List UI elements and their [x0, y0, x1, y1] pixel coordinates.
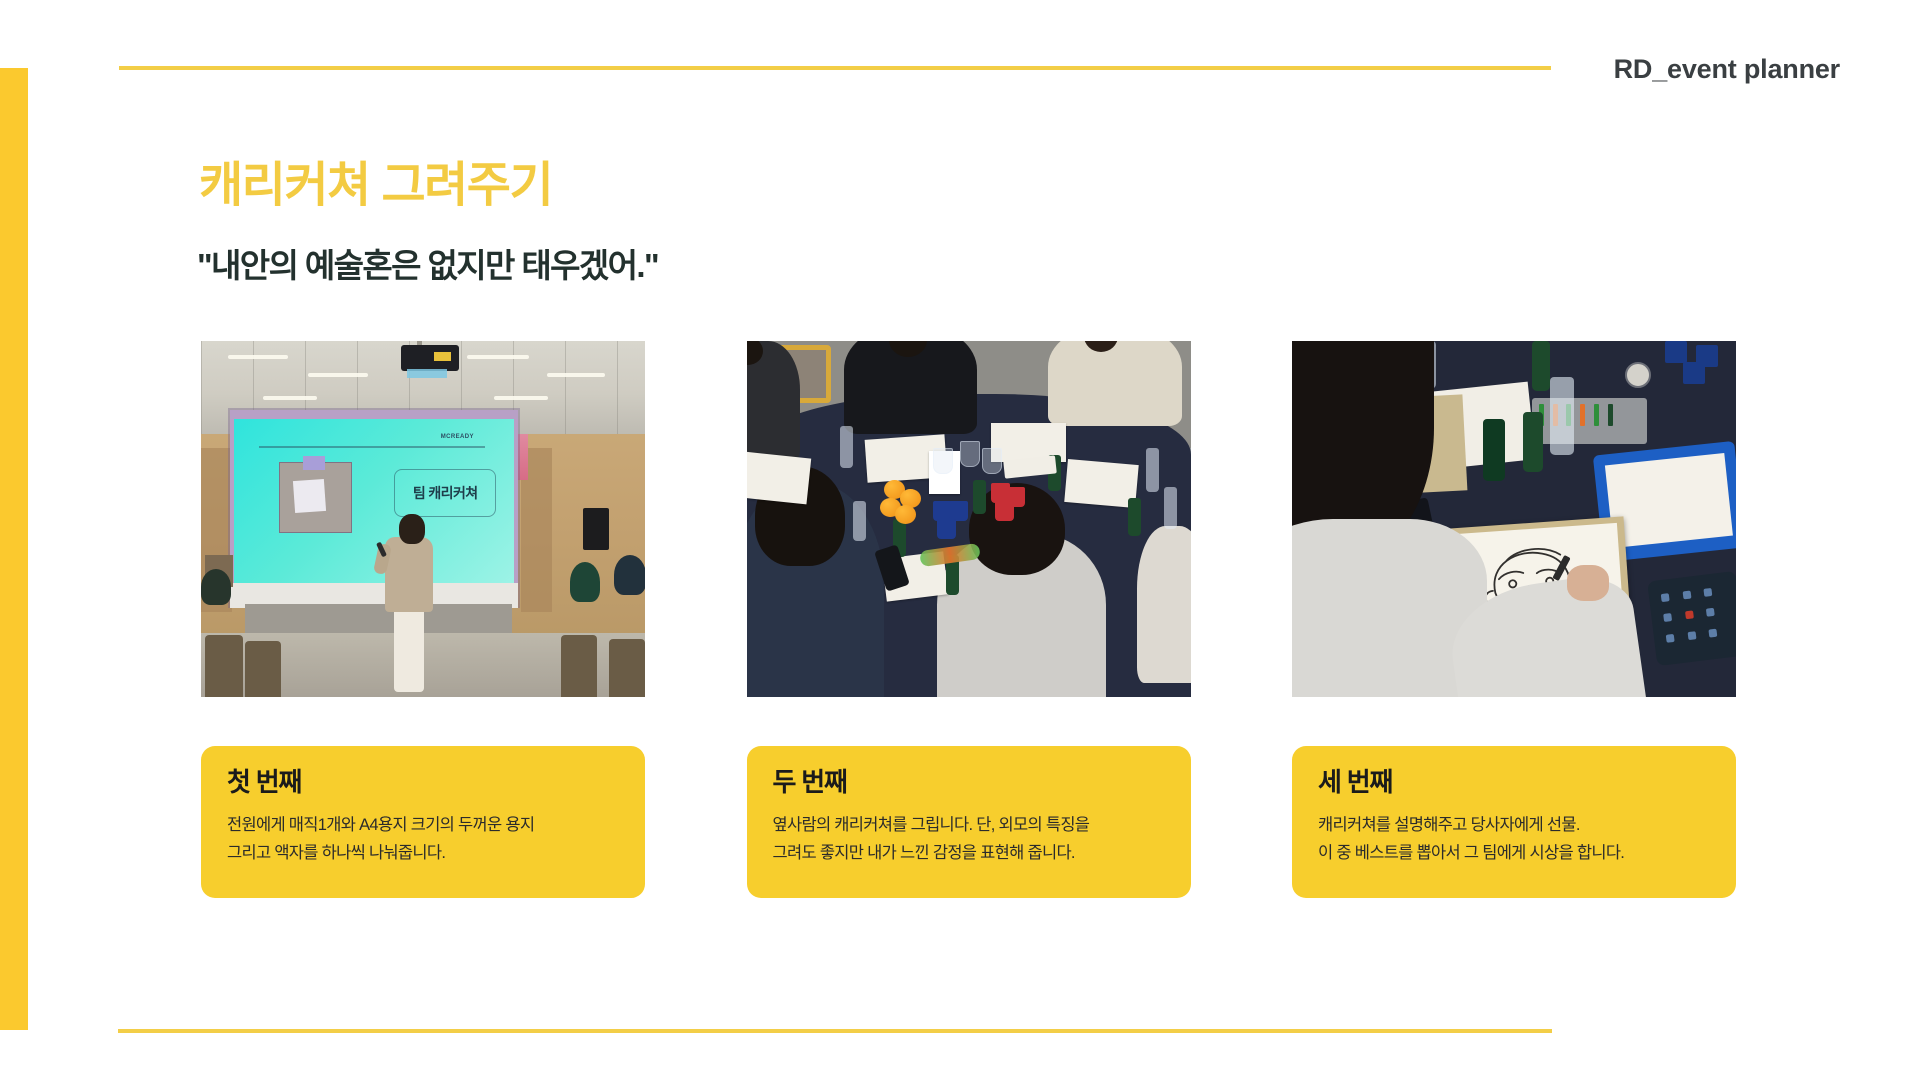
photo-row: MCREADY 팀 캐리커쳐 [201, 341, 1736, 697]
app-icon [1708, 628, 1717, 637]
blue-cup [937, 519, 956, 539]
step-card-row: 첫 번째 전원에게 매직1개와 A4용지 크기의 두꺼운 용지 그리고 액자를 … [201, 746, 1736, 898]
blue-cup-lid [1683, 362, 1705, 384]
step-card-title: 두 번째 [773, 768, 1165, 797]
water-bottle [840, 426, 853, 468]
seminar-presentation-photo: MCREADY 팀 캐리커쳐 [201, 341, 645, 697]
ceiling-light [228, 355, 288, 359]
projector-beam [407, 369, 447, 378]
app-icon [1703, 588, 1712, 597]
glass-cup [933, 448, 953, 474]
glass-cup [960, 441, 980, 467]
ceiling-light [263, 396, 317, 400]
drawing-paper [747, 452, 811, 505]
glass-cup [982, 448, 1002, 474]
bottom-divider-rule [118, 1029, 1552, 1033]
participant-hand [1567, 565, 1609, 601]
participant-top [1048, 341, 1181, 426]
ceiling-light [467, 355, 529, 359]
audience-person [614, 555, 645, 595]
water-bottle [1146, 448, 1159, 492]
chair [205, 635, 243, 697]
caricature-closeup-photo [1292, 341, 1736, 697]
green-bottle [973, 480, 986, 514]
slide-sticky-note [303, 456, 325, 470]
tablet-device [1647, 571, 1736, 667]
presenter-body [385, 537, 433, 612]
marker [1608, 404, 1613, 426]
marker [1594, 404, 1599, 426]
water-bottle [1550, 377, 1574, 455]
mandarin-orange [895, 505, 916, 524]
step-card-line: 전원에게 매직1개와 A4용지 크기의 두꺼운 용지 [227, 811, 619, 840]
marker [1580, 404, 1585, 426]
presenter-head [399, 514, 425, 544]
slide-rule [259, 446, 485, 448]
audience-person [570, 562, 600, 602]
top-divider-rule [119, 66, 1551, 70]
presenter-legs [394, 604, 424, 692]
step-card-line: 그리고 액자를 하나씩 나눠줍니다. [227, 839, 619, 868]
slide-logo: MCREADY [441, 434, 474, 440]
chair [245, 641, 281, 697]
participant-arm [1137, 526, 1190, 683]
page-title: 캐리커쳐 그려주기 [199, 158, 552, 213]
red-cup [995, 501, 1014, 521]
projector-badge [434, 352, 451, 361]
chair [561, 635, 597, 697]
step-card-title: 첫 번째 [227, 768, 619, 797]
ceiling-light [547, 373, 605, 377]
app-icon [1684, 611, 1693, 620]
step-card-line: 그려도 좋지만 내가 느낀 감정을 표현해 줍니다. [773, 839, 1165, 868]
app-icon [1706, 608, 1715, 617]
green-bottle [1483, 419, 1505, 481]
left-accent-bar [0, 68, 28, 1030]
app-icon [1661, 593, 1670, 602]
step-card-line: 이 중 베스트를 뽑아서 그 팀에게 시상을 합니다. [1318, 839, 1710, 868]
group-drawing-table-photo [747, 341, 1191, 697]
green-bottle [1523, 412, 1543, 472]
green-bottle [1128, 498, 1141, 536]
step-card-title: 세 번째 [1318, 768, 1710, 797]
page-subtitle: "내안의 예술혼은 없지만 태우겠어." [197, 246, 658, 286]
pa-speaker [583, 508, 609, 550]
app-icon [1687, 631, 1696, 640]
audience-person [201, 569, 231, 605]
step-card-line: 옆사람의 캐리커쳐를 그립니다. 단, 외모의 특징을 [773, 811, 1165, 840]
green-bottle [1532, 341, 1550, 391]
brand-label: RD_event planner [1614, 54, 1840, 85]
app-icon [1682, 590, 1691, 599]
water-bottle [853, 501, 866, 541]
slide-drawing [293, 479, 326, 513]
app-icon [1663, 613, 1672, 622]
step-card-third: 세 번째 캐리커쳐를 설명해주고 당사자에게 선물. 이 중 베스트를 뽑아서 … [1292, 746, 1736, 898]
step-card-first: 첫 번째 전원에게 매직1개와 A4용지 크기의 두꺼운 용지 그리고 액자를 … [201, 746, 645, 898]
slide-root: RD_event planner 캐리커쳐 그려주기 "내안의 예술혼은 없지만… [0, 0, 1920, 1080]
ceiling-light [494, 396, 548, 400]
blue-cup-lid [1665, 341, 1687, 363]
step-card-second: 두 번째 옆사람의 캐리커쳐를 그립니다. 단, 외모의 특징을 그려도 좋지만… [747, 746, 1191, 898]
app-icon [1666, 633, 1675, 642]
chair [609, 639, 645, 697]
slide-caption-box: 팀 캐리커쳐 [394, 469, 496, 517]
water-bottle [1164, 487, 1177, 529]
step-card-line: 캐리커쳐를 설명해주고 당사자에게 선물. [1318, 811, 1710, 840]
ceiling-light [308, 373, 368, 377]
